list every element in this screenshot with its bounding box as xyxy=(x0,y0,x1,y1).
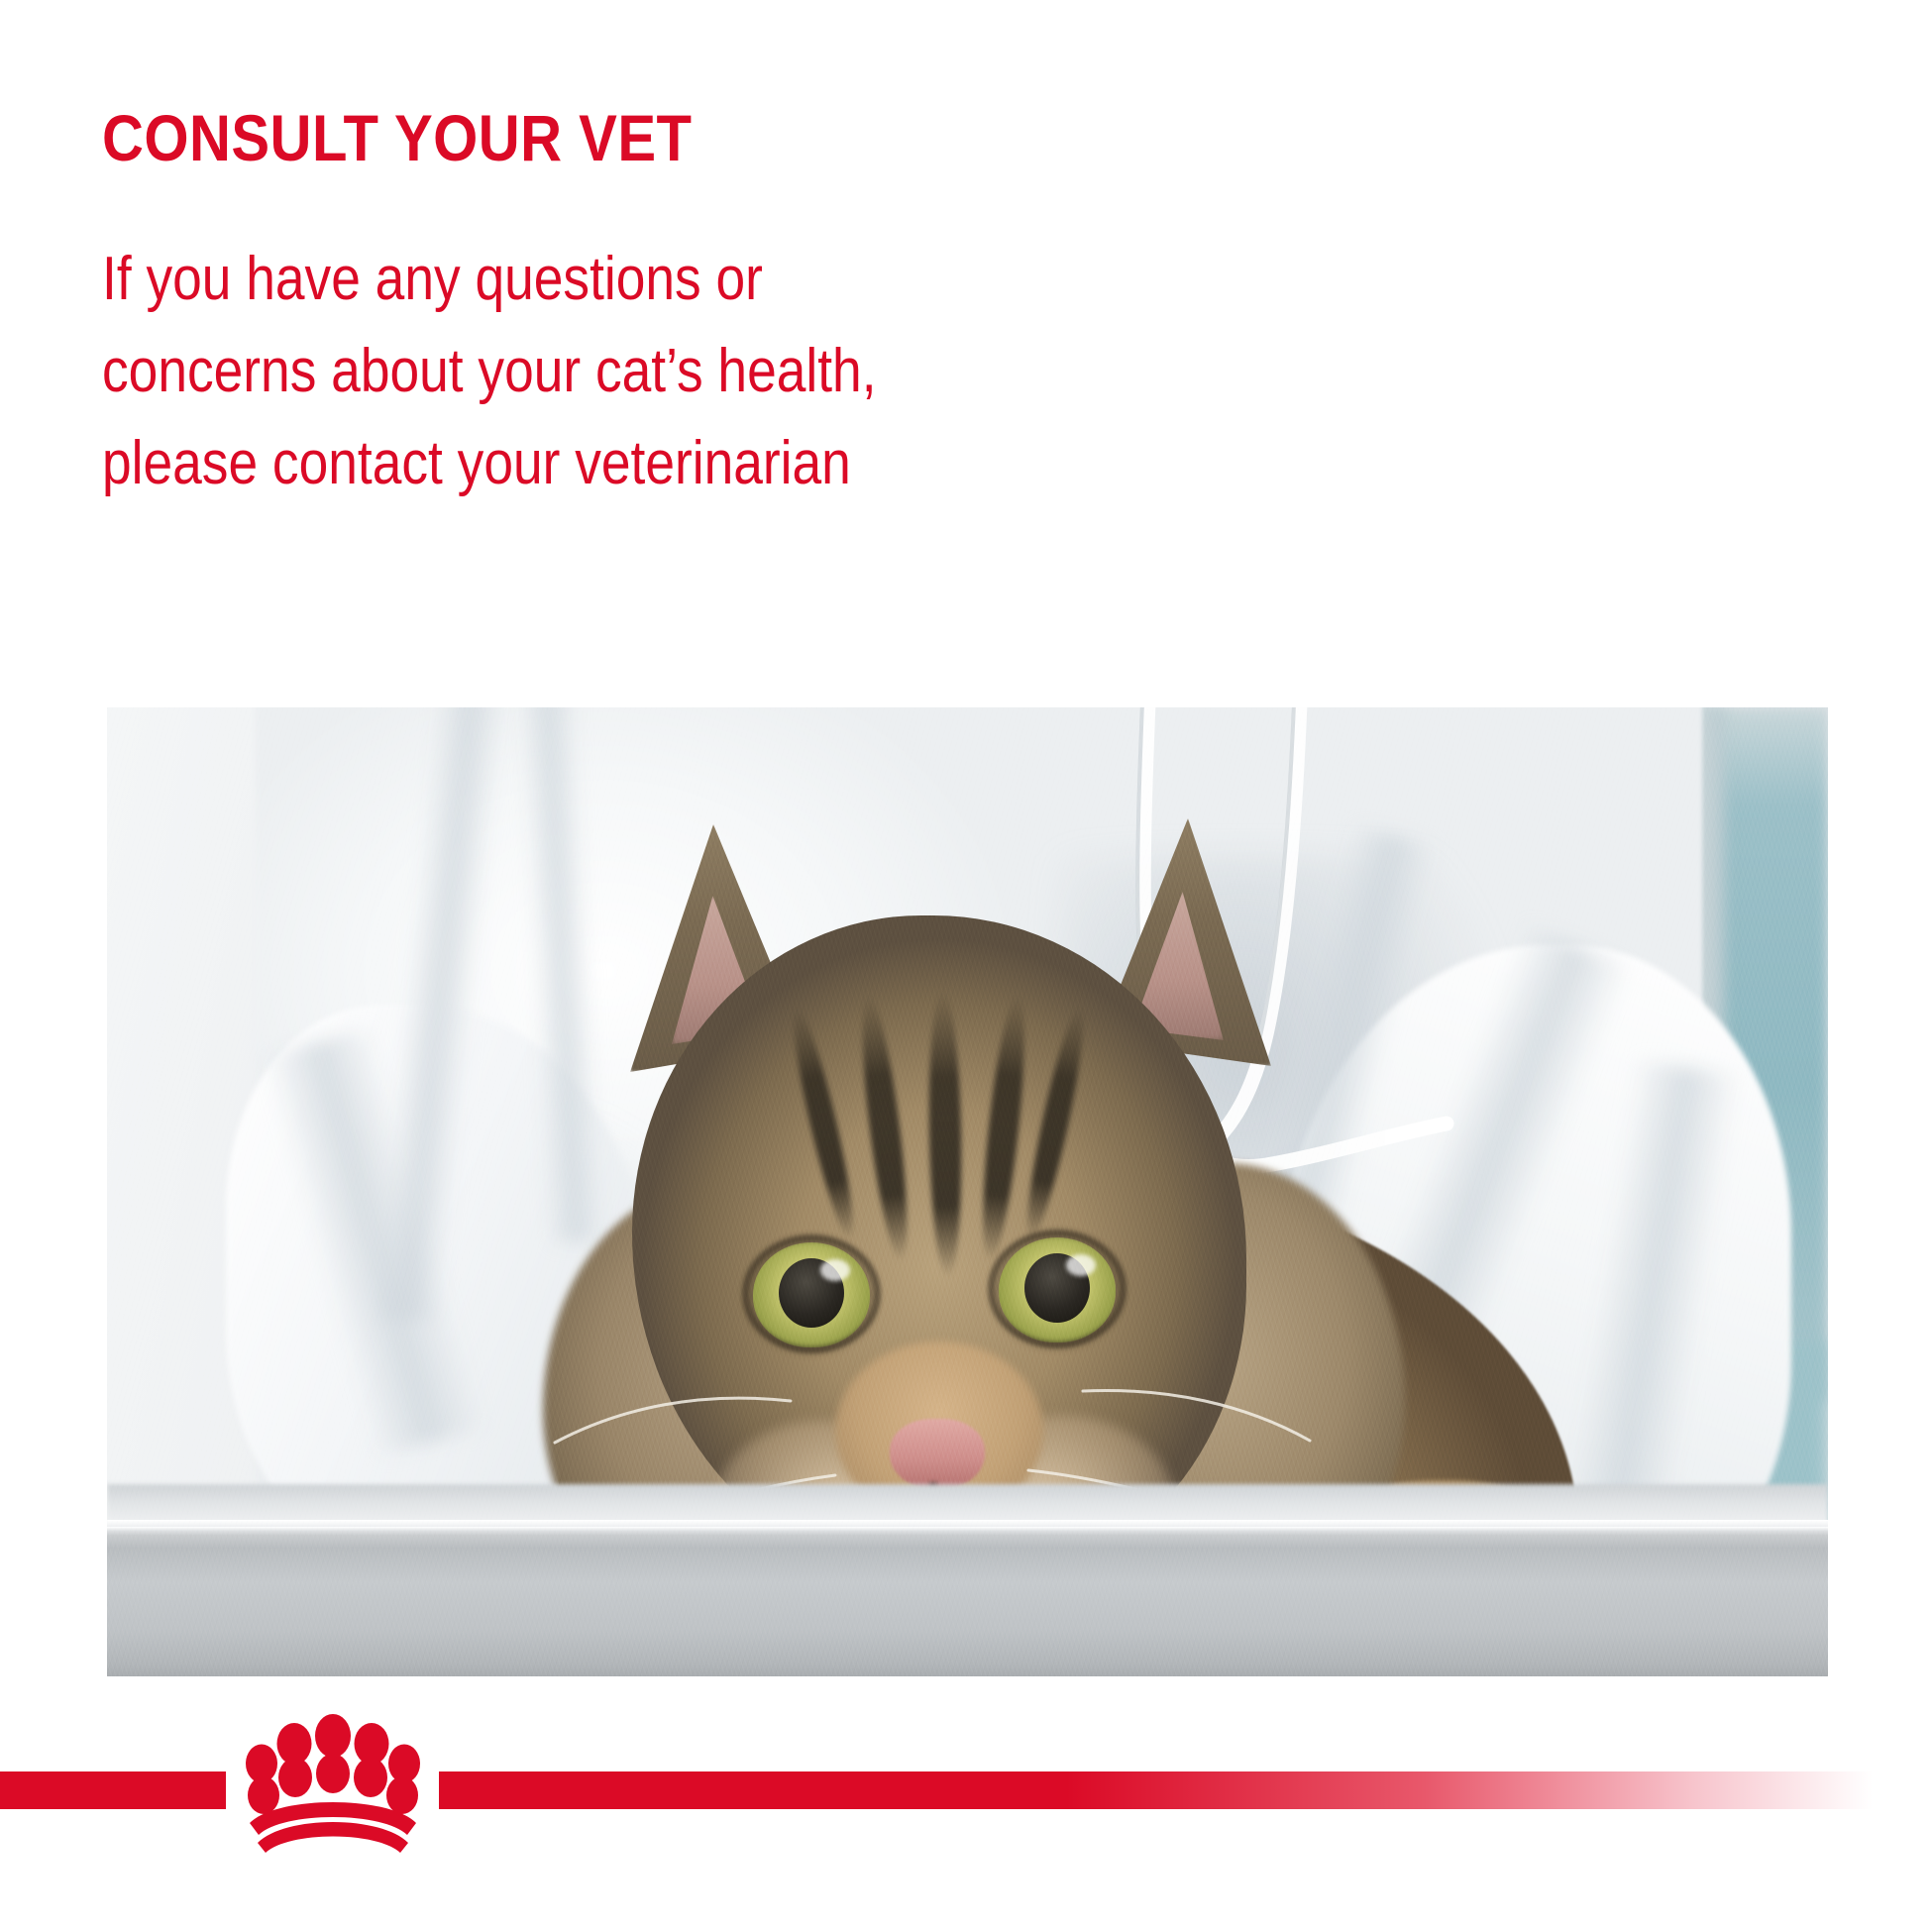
brand-rule-right xyxy=(439,1771,1932,1809)
hero-photo xyxy=(107,707,1828,1676)
royal-canin-crown-logo xyxy=(238,1712,428,1861)
subcopy-line-1: If you have any questions or xyxy=(102,233,877,325)
subcopy-block: If you have any questions or concerns ab… xyxy=(102,233,877,509)
brand-footer xyxy=(0,1756,1932,1819)
page-title: CONSULT YOUR VET xyxy=(102,105,692,170)
exam-table-edge xyxy=(107,1520,1828,1676)
brand-rule-left xyxy=(0,1771,226,1809)
subcopy-line-2: concerns about your cat’s health, xyxy=(102,325,877,417)
subcopy-line-3: please contact your veterinarian xyxy=(102,417,877,509)
